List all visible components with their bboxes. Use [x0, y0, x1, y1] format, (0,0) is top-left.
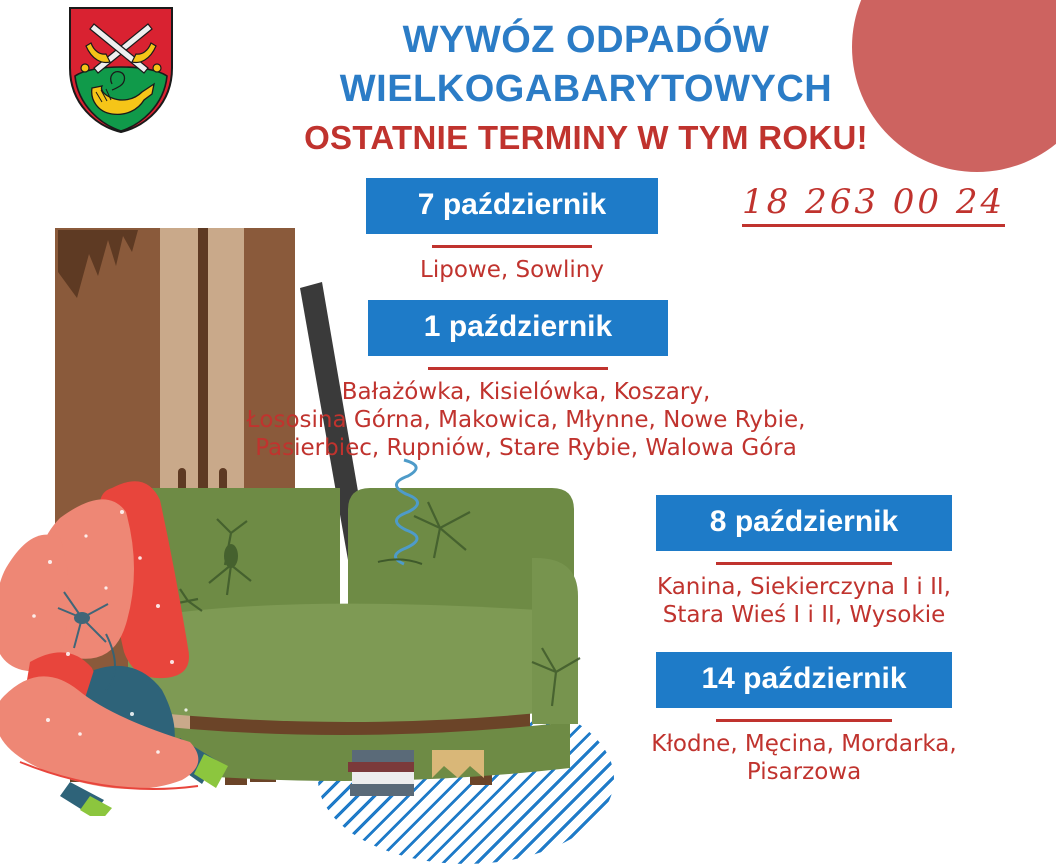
locality-list: Lipowe, Sowliny	[366, 256, 658, 284]
divider-rule	[716, 562, 892, 565]
locality-list: Kanina, Siekierczyna I i II, Stara Wieś …	[614, 573, 994, 629]
locality-line: Bałażówka, Kisielówka, Koszary,	[216, 378, 836, 406]
book-stack-icon	[348, 750, 414, 796]
date-badge[interactable]: 1 październik	[368, 300, 668, 356]
locality-line: Stara Wieś I i II, Wysokie	[614, 601, 994, 629]
locality-list: Bałażówka, Kisielówka, Koszary, Łososina…	[216, 378, 836, 462]
poster-headings: WYWÓZ ODPADÓW WIELKOGABARYTOWYCH OSTATNI…	[236, 16, 936, 159]
locality-line: Pisarzowa	[614, 758, 994, 786]
locality-line: Łososina Górna, Makowica, Młynne, Nowe R…	[216, 406, 836, 434]
collection-block: 7 październik Lipowe, Sowliny	[366, 178, 658, 284]
locality-line: Pasierbiec, Rupniów, Stare Rybie, Walowa…	[216, 434, 836, 462]
title-line-2: WIELKOGABARYTOWYCH	[236, 65, 936, 114]
collection-block: 8 październik Kanina, Siekierczyna I i I…	[656, 495, 952, 629]
poster-canvas: WYWÓZ ODPADÓW WIELKOGABARYTOWYCH OSTATNI…	[0, 0, 1056, 816]
date-badge[interactable]: 7 październik	[366, 178, 658, 234]
locality-line: Lipowe, Sowliny	[366, 256, 658, 284]
locality-line: Kłodne, Męcina, Mordarka,	[614, 730, 994, 758]
collection-block: 1 październik Bałażówka, Kisielówka, Kos…	[368, 300, 668, 462]
locality-list: Kłodne, Męcina, Mordarka, Pisarzowa	[614, 730, 994, 786]
armchair-icon	[0, 466, 240, 816]
coat-of-arms-icon	[68, 6, 174, 134]
collection-block: 14 październik Kłodne, Męcina, Mordarka,…	[656, 652, 952, 786]
date-badge[interactable]: 8 październik	[656, 495, 952, 551]
subtitle-line: OSTATNIE TERMINY W TYM ROKU!	[236, 117, 936, 159]
contact-phone-number[interactable]: 18 263 00 24	[742, 182, 1005, 227]
locality-line: Kanina, Siekierczyna I i II,	[614, 573, 994, 601]
date-badge[interactable]: 14 październik	[656, 652, 952, 708]
divider-rule	[716, 719, 892, 722]
title-line-1: WYWÓZ ODPADÓW	[236, 16, 936, 65]
divider-rule	[428, 367, 608, 370]
divider-rule	[432, 245, 592, 248]
